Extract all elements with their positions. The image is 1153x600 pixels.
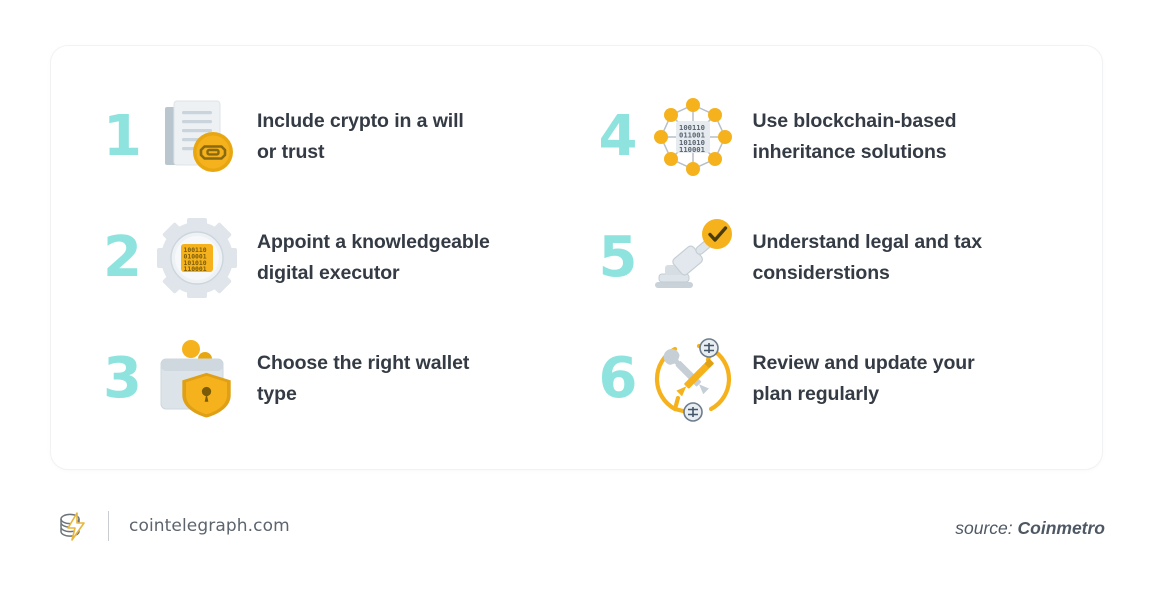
step-text-line2: inheritance solutions — [753, 137, 1065, 167]
footer-brand: cointelegraph.com — [54, 506, 290, 546]
step-number: 1 — [103, 109, 149, 165]
source-label: source: — [955, 518, 1012, 538]
step-number: 4 — [599, 109, 645, 165]
source-name: Coinmetro — [1018, 518, 1106, 538]
step-text: Appoint a knowledgeable digital executor — [245, 227, 569, 287]
step-text-line2: digital executor — [257, 258, 569, 288]
step-item-3: 3 — [103, 318, 569, 439]
will-document-coin-icon — [149, 89, 245, 185]
refresh-tools-icon — [645, 331, 741, 427]
step-text-line2: type — [257, 379, 569, 409]
svg-text:110001: 110001 — [679, 145, 705, 154]
footer: cointelegraph.com source: Coinmetro — [0, 498, 1153, 578]
step-text: Use blockchain-based inheritance solutio… — [741, 106, 1065, 166]
step-item-2: 2 — [103, 197, 569, 318]
step-item-5: 5 — [599, 197, 1065, 318]
blockchain-network-icon: 100110 011001 101010 110001 — [645, 89, 741, 185]
step-text: Understand legal and tax considerstions — [741, 227, 1065, 287]
gavel-check-icon — [645, 210, 741, 306]
step-item-1: 1 — [103, 76, 569, 197]
step-text-line1: Understand legal and tax — [753, 227, 1065, 257]
footer-site-label: cointelegraph.com — [129, 516, 290, 536]
step-text-line1: Appoint a knowledgeable — [257, 227, 569, 257]
footer-divider — [108, 511, 109, 541]
step-number: 2 — [103, 230, 149, 286]
step-number: 3 — [103, 351, 149, 407]
step-text-line1: Review and update your — [753, 348, 1065, 378]
step-text-line1: Include crypto in a will — [257, 106, 569, 136]
step-text-line1: Use blockchain-based — [753, 106, 1065, 136]
steps-card: 1 — [50, 45, 1103, 470]
step-number: 6 — [599, 351, 645, 407]
step-text: Review and update your plan regularly — [741, 348, 1065, 408]
step-number: 5 — [599, 230, 645, 286]
svg-text:110001: 110001 — [184, 265, 207, 273]
infographic-page: 1 — [0, 0, 1153, 600]
step-text-line2: or trust — [257, 137, 569, 167]
step-item-4: 4 100110 011001 101010 110001 — [599, 76, 1065, 197]
wallet-shield-lock-icon — [149, 331, 245, 427]
step-item-6: 6 — [599, 318, 1065, 439]
steps-grid: 1 — [51, 46, 1102, 469]
step-text-line2: plan regularly — [753, 379, 1065, 409]
step-text-line1: Choose the right wallet — [257, 348, 569, 378]
step-text: Choose the right wallet type — [245, 348, 569, 408]
cointelegraph-logo-icon — [54, 506, 94, 546]
step-text-line2: considerstions — [753, 258, 1065, 288]
footer-source: source: Coinmetro — [955, 518, 1105, 539]
step-text: Include crypto in a will or trust — [245, 106, 569, 166]
gear-chip-icon: 100110 010001 101010 110001 — [149, 210, 245, 306]
